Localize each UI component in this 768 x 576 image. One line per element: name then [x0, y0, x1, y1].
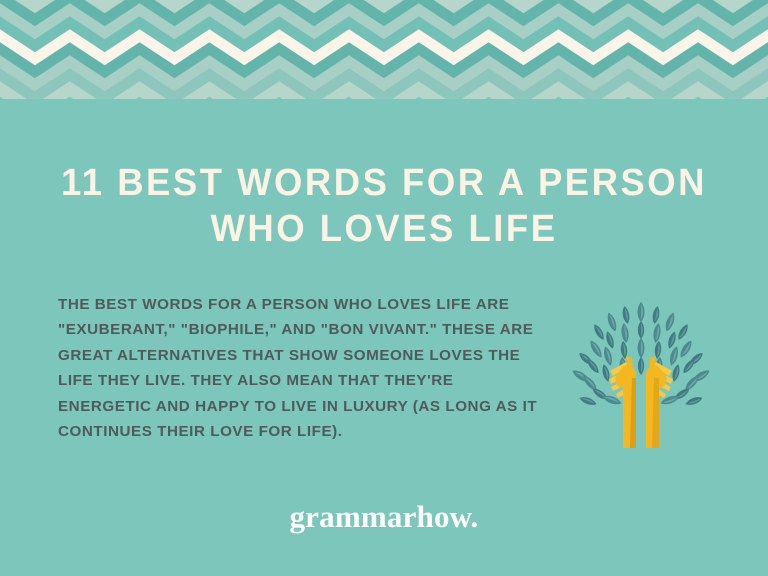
body-paragraph: THE BEST WORDS FOR A PERSON WHO LOVES LI…: [58, 292, 550, 444]
title-line-1: 11 BEST WORDS FOR A PERSON: [15, 160, 752, 206]
chevron-pattern-banner: [0, 0, 768, 103]
brand-logo: grammarhow.: [0, 499, 768, 535]
body-paragraph-text: THE BEST WORDS FOR A PERSON WHO LOVES LI…: [58, 292, 550, 444]
poster-canvas: 11 BEST WORDS FOR A PERSON WHO LOVES LIF…: [0, 0, 768, 576]
page-title: 11 BEST WORDS FOR A PERSON WHO LOVES LIF…: [0, 160, 768, 252]
title-line-2: WHO LOVES LIFE: [15, 206, 752, 252]
tree-canopy: [571, 302, 712, 407]
tree-with-hands-icon: [566, 296, 716, 456]
